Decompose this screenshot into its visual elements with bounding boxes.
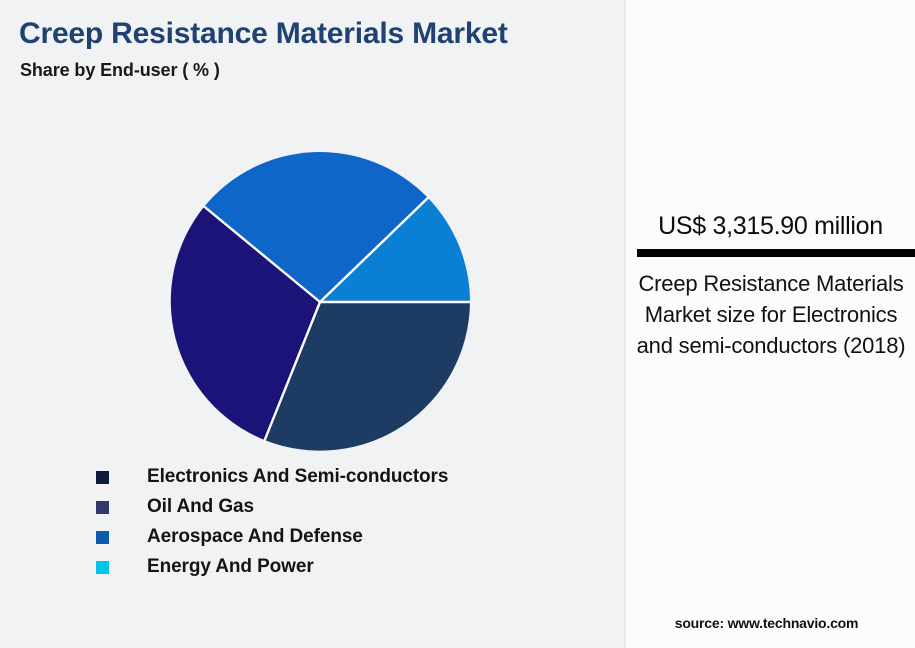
legend-item-electronics-and-semi-conductors[interactable]: Electronics And Semi-conductors bbox=[96, 462, 596, 492]
kpi-panel: US$ 3,315.90 million Creep Resistance Ma… bbox=[626, 0, 915, 648]
legend-item-label: Oil And Gas bbox=[147, 496, 254, 518]
kpi-value: US$ 3,315.90 million bbox=[626, 212, 915, 241]
kpi-underline-rule bbox=[637, 249, 915, 257]
legend-item-aerospace-and-defense[interactable]: Aerospace And Defense bbox=[96, 522, 596, 552]
source-note: source: www.technavio.com bbox=[626, 615, 907, 631]
kpi-caption: Creep Resistance Materials Market size f… bbox=[636, 268, 906, 361]
legend-item-energy-and-power[interactable]: Energy And Power bbox=[96, 552, 596, 582]
legend-swatch-icon bbox=[96, 531, 109, 544]
infographic-canvas: Creep Resistance Materials Market Share … bbox=[0, 0, 915, 648]
chart-subtitle: Share by End-user ( % ) bbox=[20, 60, 220, 81]
legend-item-label: Aerospace And Defense bbox=[147, 526, 363, 548]
legend-swatch-icon bbox=[96, 501, 109, 514]
page-title: Creep Resistance Materials Market bbox=[19, 17, 508, 51]
chart-panel: Creep Resistance Materials Market Share … bbox=[0, 0, 624, 648]
pie-chart bbox=[170, 152, 470, 452]
legend-item-label: Energy And Power bbox=[147, 556, 314, 578]
pie-chart-svg bbox=[170, 152, 470, 452]
legend-item-label: Electronics And Semi-conductors bbox=[147, 466, 448, 488]
legend-swatch-icon bbox=[96, 561, 109, 574]
legend-swatch-icon bbox=[96, 471, 109, 484]
chart-legend: Electronics And Semi-conductors Oil And … bbox=[96, 462, 596, 582]
legend-item-oil-and-gas[interactable]: Oil And Gas bbox=[96, 492, 596, 522]
